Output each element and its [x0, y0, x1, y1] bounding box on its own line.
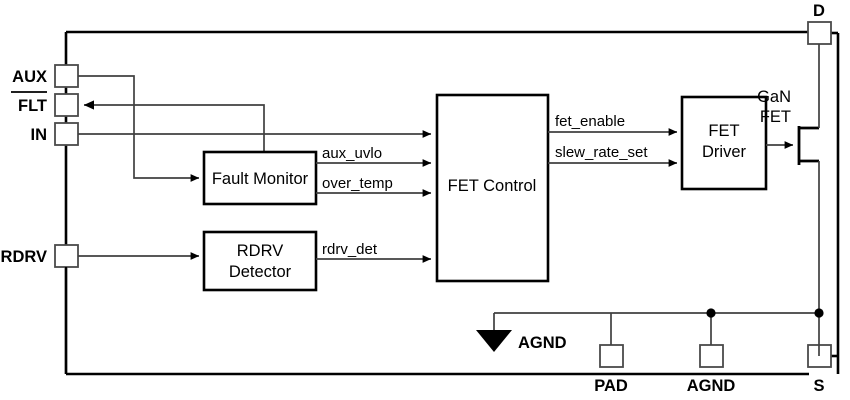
pin-agnd[interactable]: AGND	[687, 345, 736, 395]
agnd-ground-icon	[476, 330, 512, 352]
pin-in[interactable]: IN	[31, 123, 79, 145]
pin-flt-label: FLT	[18, 97, 47, 115]
junction-dot-agnd	[706, 308, 715, 317]
block-fet-driver-label-2: Driver	[702, 143, 747, 161]
pin-pad-label: PAD	[594, 377, 628, 395]
block-fet-control[interactable]: FET Control	[437, 95, 548, 281]
diagram-svg: AUX FLT IN RDRV D PAD AGND S	[0, 0, 850, 400]
gan-fet-label-2: FET	[760, 108, 791, 126]
block-rdrv-detector-label-1: RDRV	[237, 242, 283, 260]
pin-in-label: IN	[31, 126, 48, 144]
block-fault-monitor[interactable]: Fault Monitor	[204, 152, 316, 204]
pin-aux-label: AUX	[12, 68, 47, 86]
pin-flt[interactable]: FLT	[11, 92, 78, 116]
ground-rail: AGND	[476, 308, 824, 352]
block-rdrv-detector[interactable]: RDRV Detector	[204, 232, 316, 290]
block-fet-driver-label-1: FET	[708, 122, 739, 140]
pin-d-label: D	[813, 2, 825, 20]
signal-slew-rate-set-label: slew_rate_set	[555, 144, 648, 161]
signal-aux-uvlo-label: aux_uvlo	[322, 145, 382, 162]
pin-aux[interactable]: AUX	[12, 65, 78, 87]
signal-rdrv-det-label: rdrv_det	[322, 241, 378, 258]
pin-pad[interactable]: PAD	[594, 345, 628, 395]
wire-aux-to-fault-monitor	[78, 76, 199, 178]
block-fet-control-label: FET Control	[448, 177, 537, 195]
signal-fet-enable-label: fet_enable	[555, 113, 625, 130]
block-diagram-canvas: AUX FLT IN RDRV D PAD AGND S	[0, 0, 850, 400]
agnd-symbol-label: AGND	[518, 334, 567, 352]
wire-flt-feedback	[84, 105, 264, 152]
pin-s-label: S	[813, 377, 824, 395]
gan-fet-symbol: GaN FET	[757, 44, 819, 356]
block-fault-monitor-label: Fault Monitor	[212, 170, 309, 188]
pin-rdrv[interactable]: RDRV	[1, 245, 78, 267]
junction-dot-source	[814, 308, 823, 317]
pin-d[interactable]: D	[808, 2, 831, 44]
gan-fet-label-1: GaN	[757, 88, 791, 106]
signal-over-temp-label: over_temp	[322, 175, 393, 192]
pin-agnd-label: AGND	[687, 377, 736, 395]
block-rdrv-detector-label-2: Detector	[229, 263, 292, 281]
block-fet-driver[interactable]: FET Driver	[682, 97, 766, 189]
pin-rdrv-label: RDRV	[1, 248, 47, 266]
